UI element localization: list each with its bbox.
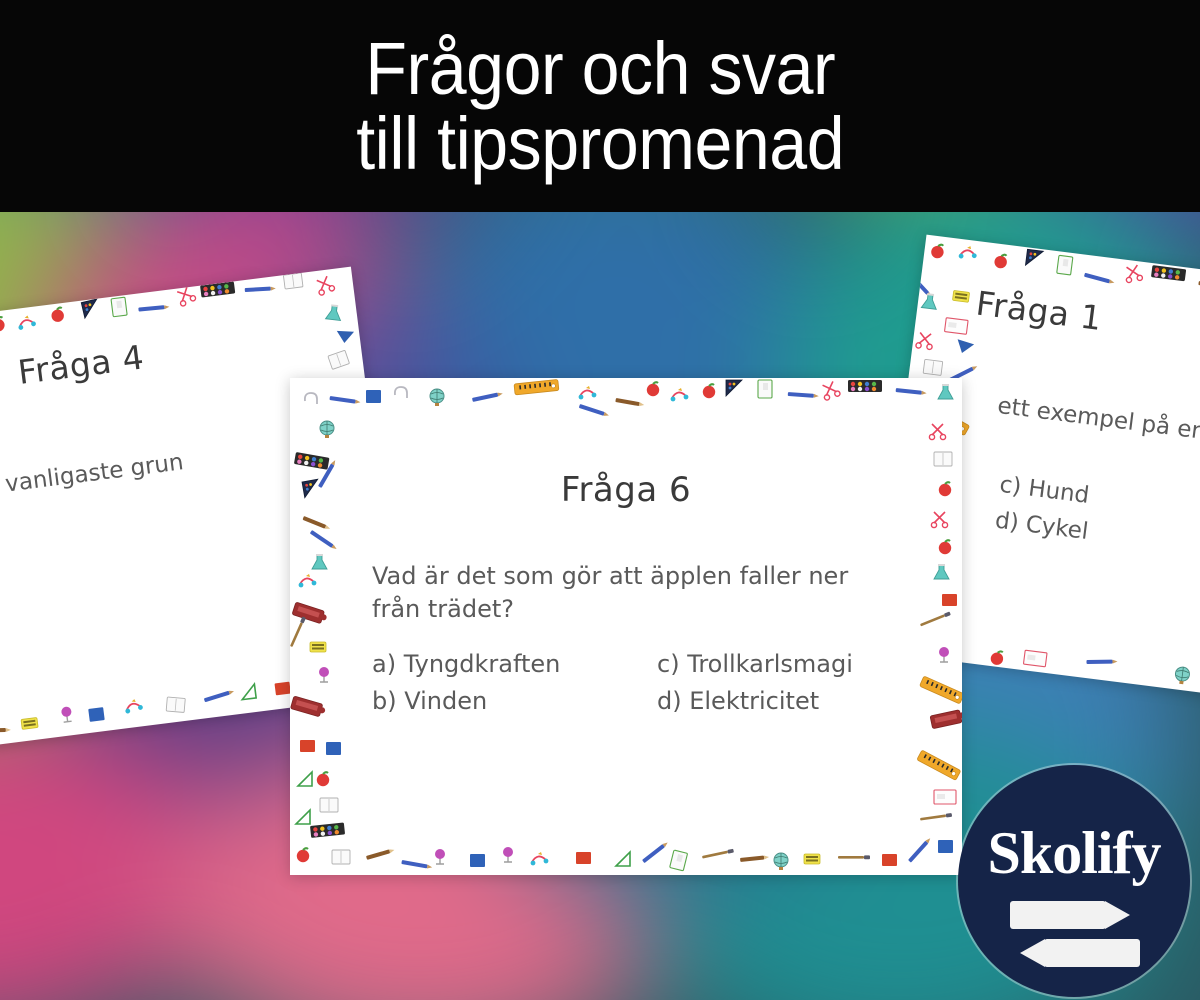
option-b[interactable]: b) Vinden — [372, 687, 657, 715]
pencil-icon-bottom — [1020, 939, 1142, 967]
card-center-title: Fråga 6 — [290, 470, 962, 510]
option-c[interactable]: c) Trollkarlsmagi — [657, 650, 892, 678]
skolify-logo[interactable]: Skolify — [958, 765, 1190, 997]
card-right-title: Fråga 1 — [916, 276, 1200, 385]
poster-canvas: Fråga 4 Vad är det vanligaste grun a) Jä… — [0, 0, 1200, 1000]
option-c[interactable]: c) Hund — [998, 472, 1094, 510]
card-center-options: a) Tyngdkraften c) Trollkarlsmagi b) Vin… — [372, 650, 892, 715]
option-d[interactable]: d) Elektricitet — [657, 687, 892, 715]
card-center-inner: Fråga 6 Vad är det som gör att äpplen fa… — [290, 378, 962, 875]
school-supplies-border — [290, 378, 962, 875]
option-a[interactable]: a) Tyngdkraften — [372, 650, 657, 678]
card-right-options: c) Hund d) Cykel — [994, 472, 1095, 545]
card-right-question: ett exempel på en — [996, 393, 1200, 471]
title-line-1: Frågor och svar — [365, 33, 835, 104]
card-center-question: Vad är det som gör att äpplen faller ner… — [372, 560, 892, 626]
question-card-center[interactable]: Fråga 6 Vad är det som gör att äpplen fa… — [290, 378, 962, 875]
option-d[interactable]: d) Cykel — [994, 508, 1090, 546]
logo-wordmark: Skolify — [987, 823, 1160, 883]
pencil-icon-top — [1010, 901, 1128, 929]
title-line-2: till tipspromenad — [356, 108, 844, 179]
title-banner: Frågor och svar till tipspromenad — [0, 0, 1200, 212]
